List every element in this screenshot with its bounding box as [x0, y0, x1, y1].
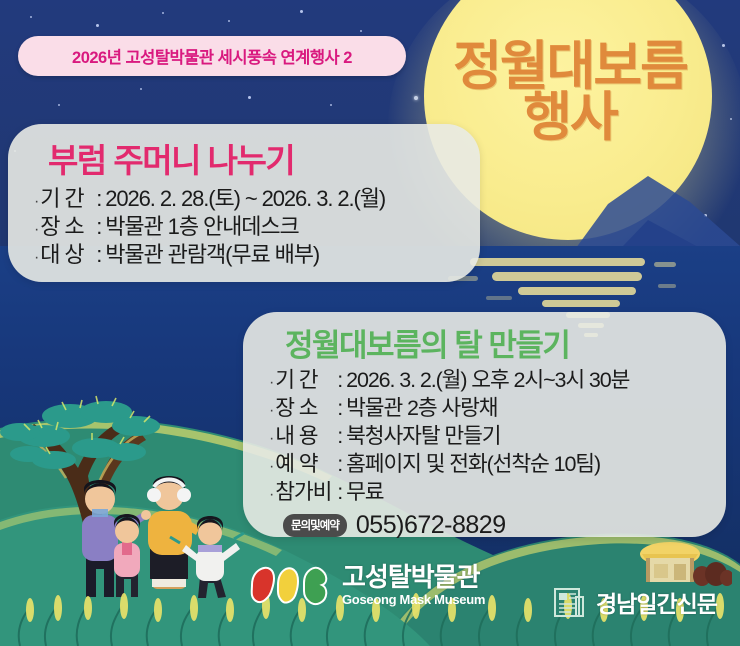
bullet-icon: ·: [269, 457, 273, 478]
list-item: · 예 약 : 홈페이지 및 전화(선착순 10팀): [269, 451, 704, 479]
list-item: · 대 상 : 박물관 관람객(무료 배부): [34, 241, 458, 269]
detail-separator: :: [96, 213, 101, 241]
card-one-title: 부럼 주머니 나누기: [48, 144, 458, 177]
bullet-icon: ·: [269, 485, 273, 506]
detail-label: 기 간: [275, 367, 337, 395]
program-card-mask-making: 정월대보름의 탈 만들기 · 기 간 : 2026. 3. 2.(월) 오후 2…: [243, 312, 726, 537]
detail-label: 기 간: [40, 185, 96, 213]
bullet-icon: ·: [34, 248, 38, 268]
mask-logo-icon: [248, 563, 334, 607]
detail-separator: :: [337, 395, 342, 423]
detail-value: 2026. 2. 28.(토) ~ 2026. 3. 2.(월): [105, 185, 385, 213]
museum-logo: 고성탈박물관 Goseong Mask Museum: [248, 563, 485, 607]
press-name: 경남일간신문: [596, 585, 717, 619]
list-item: · 장 소 : 박물관 2층 사랑채: [269, 395, 704, 423]
newspaper-icon: [552, 585, 586, 619]
detail-separator: :: [337, 423, 342, 451]
list-item: · 기 간 : 2026. 3. 2.(월) 오후 2시~3시 30분: [269, 367, 704, 395]
museum-name-korean: 고성탈박물관: [342, 564, 485, 590]
detail-label: 참가비: [275, 479, 337, 507]
card-two-title: 정월대보름의 탈 만들기: [285, 330, 704, 361]
museum-logo-text: 고성탈박물관 Goseong Mask Museum: [342, 564, 485, 606]
museum-name-english: Goseong Mask Museum: [342, 593, 485, 606]
detail-value: 홈페이지 및 전화(선착순 10팀): [346, 451, 600, 479]
figure-girl: [114, 514, 140, 597]
detail-label: 장 소: [40, 213, 96, 241]
card-one-detail-list: · 기 간 : 2026. 2. 28.(토) ~ 2026. 3. 2.(월)…: [34, 185, 458, 269]
detail-separator: :: [337, 479, 342, 507]
bullet-icon: ·: [269, 401, 273, 422]
detail-separator: :: [337, 451, 342, 479]
family-illustration: [68, 465, 268, 600]
list-item: · 내 용 : 북청사자탈 만들기: [269, 423, 704, 451]
status-badge: 문의및예약: [283, 514, 347, 537]
list-item: · 장 소 : 박물관 1층 안내데스크: [34, 213, 458, 241]
figure-mother: [147, 476, 200, 589]
detail-label: 장 소: [275, 395, 337, 423]
detail-value: 2026. 3. 2.(월) 오후 2시~3시 30분: [346, 367, 629, 395]
page-title: 정월대보름 행사: [432, 42, 708, 144]
bullet-icon: ·: [269, 373, 273, 394]
detail-value: 박물관 1층 안내데스크: [105, 213, 298, 241]
header-ribbon-text: 2026년 고성탈박물관 세시풍속 연계행사 2: [72, 44, 352, 68]
bullet-icon: ·: [34, 220, 38, 240]
detail-value: 북청사자탈 만들기: [346, 423, 500, 451]
header-ribbon: 2026년 고성탈박물관 세시풍속 연계행사 2: [18, 36, 406, 76]
detail-label: 예 약: [275, 451, 337, 479]
detail-separator: :: [96, 241, 101, 269]
detail-separator: :: [96, 185, 101, 213]
detail-value: 박물관 2층 사랑채: [346, 395, 497, 423]
detail-label: 대 상: [40, 241, 96, 269]
detail-value: 박물관 관람객(무료 배부): [105, 241, 319, 269]
detail-separator: :: [337, 367, 342, 395]
card-two-detail-list: · 기 간 : 2026. 3. 2.(월) 오후 2시~3시 30분 · 장 …: [269, 367, 704, 507]
clay-jars: [693, 562, 732, 586]
contact-phone-number[interactable]: 055)672-8829: [356, 511, 506, 540]
poster-canvas: 2026년 고성탈박물관 세시풍속 연계행사 2 정월대보름 행사 부럼 주머니…: [0, 0, 740, 646]
detail-value: 무료: [346, 479, 383, 507]
detail-label: 내 용: [275, 423, 337, 451]
page-title-line-2: 행사: [432, 93, 708, 144]
bullet-icon: ·: [269, 429, 273, 450]
bullet-icon: ·: [34, 192, 38, 212]
program-card-burum: 부럼 주머니 나누기 · 기 간 : 2026. 2. 28.(토) ~ 202…: [8, 124, 480, 282]
contact-row: 문의및예약 055)672-8829: [283, 511, 704, 540]
press-logo: 경남일간신문: [552, 585, 717, 619]
list-item: · 기 간 : 2026. 2. 28.(토) ~ 2026. 3. 2.(월): [34, 185, 458, 213]
list-item: · 참가비 : 무료: [269, 479, 704, 507]
